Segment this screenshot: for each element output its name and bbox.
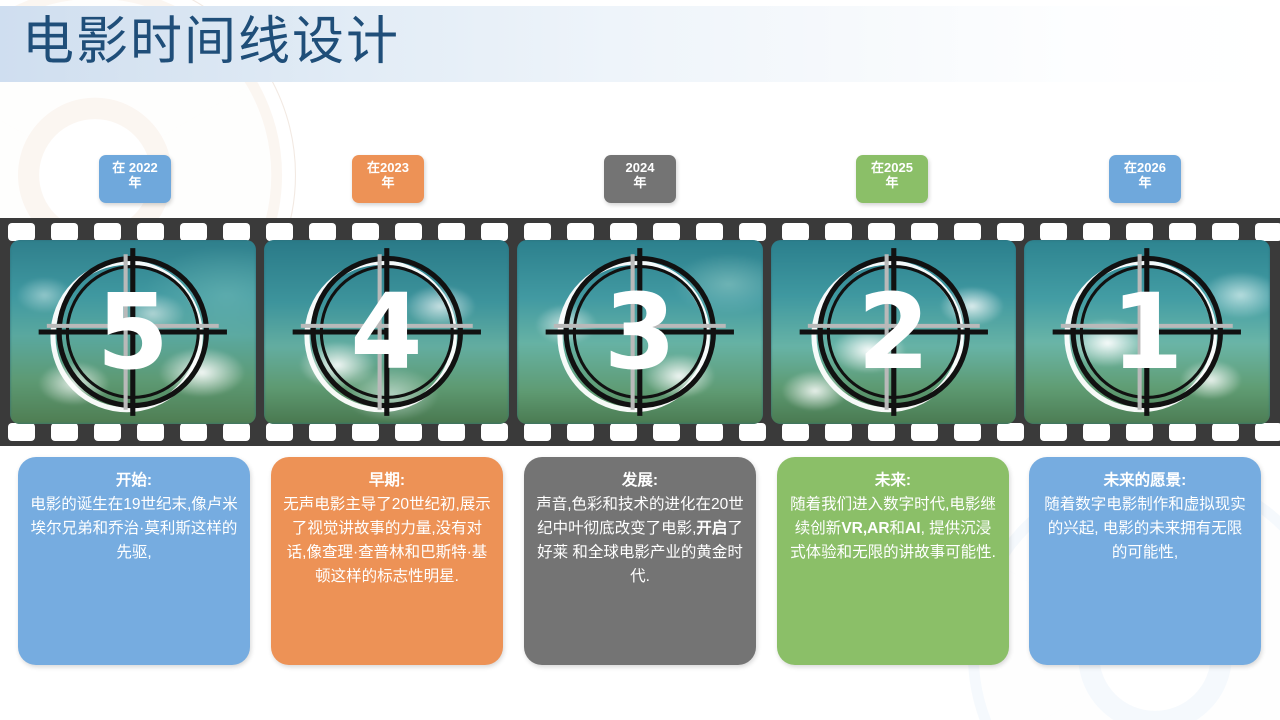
timeline-card-vision[interactable]: 未来的愿景: 随着数字电影制作和虚拟现实的兴起, 电影的未来拥有无限的可能性, <box>1029 457 1261 665</box>
film-perforation <box>266 423 293 441</box>
card-heading: 未来的愿景: <box>1041 469 1249 493</box>
film-perforation <box>1040 423 1067 441</box>
film-perforation <box>653 423 680 441</box>
badge-suffix: 年 <box>862 175 922 190</box>
film-perforation <box>696 423 723 441</box>
film-perforation <box>696 223 723 241</box>
film-perforation <box>782 423 809 441</box>
countdown-frame-1[interactable]: 1 <box>1024 240 1270 424</box>
countdown-frame-3[interactable]: 3 <box>517 240 763 424</box>
film-frames: 5 4 <box>0 240 1280 424</box>
countdown-digit: 1 <box>1024 280 1270 384</box>
card-body: 电影的诞生在19世纪末,像卢米埃尔兄弟和乔治·莫利斯这样的先驱, <box>30 493 238 565</box>
timeline-card-future[interactable]: 未来: 随着我们进入数字时代,电影继续创新VR,AR和AI, 提供沉浸式体验和无… <box>777 457 1009 665</box>
film-perforation <box>8 423 35 441</box>
countdown-frame-5[interactable]: 5 <box>10 240 256 424</box>
film-perforation <box>481 423 508 441</box>
badge-year: 2023 <box>380 160 409 175</box>
badge-year: 2026 <box>1137 160 1166 175</box>
card-body-emphasis-2: AI <box>905 520 921 537</box>
timeline-badge-2022[interactable]: 在 2022 年 <box>99 155 171 203</box>
film-perforation <box>911 423 938 441</box>
film-perforation <box>481 223 508 241</box>
countdown-digit: 2 <box>771 280 1017 384</box>
film-perforation <box>223 423 250 441</box>
film-perforation <box>1040 223 1067 241</box>
film-perforation <box>911 223 938 241</box>
timeline-badge-2025[interactable]: 在2025 年 <box>856 155 928 203</box>
card-body-mid: 和 <box>890 520 906 537</box>
badge-suffix: 年 <box>1115 175 1175 190</box>
film-perforation <box>653 223 680 241</box>
film-perforation <box>395 423 422 441</box>
film-perforation <box>1169 223 1196 241</box>
countdown-digit: 5 <box>10 280 256 384</box>
film-perforation <box>137 223 164 241</box>
film-perforation <box>137 423 164 441</box>
film-perforation <box>825 423 852 441</box>
badge-suffix: 年 <box>105 175 165 190</box>
film-perforation <box>524 423 551 441</box>
film-perforation <box>8 223 35 241</box>
film-perforation <box>180 423 207 441</box>
card-heading: 未来: <box>789 469 997 493</box>
film-perforations-bottom <box>0 423 1280 441</box>
film-perforation <box>309 423 336 441</box>
film-perforation <box>1126 223 1153 241</box>
timeline-card-development[interactable]: 发展: 声音,色彩和技术的进化在20世纪中叶彻底改变了电影,开启了好莱 和全球电… <box>524 457 756 665</box>
film-perforation <box>266 223 293 241</box>
card-body: 随着我们进入数字时代,电影继续创新VR,AR和AI, 提供沉浸式体验和无限的讲故… <box>789 493 997 565</box>
film-perforation <box>94 223 121 241</box>
badge-prefix: 在 <box>1124 160 1137 175</box>
card-heading: 早期: <box>283 469 491 493</box>
film-strip: 5 4 <box>0 218 1280 446</box>
film-perforation <box>438 223 465 241</box>
card-body: 无声电影主导了20世纪初,展示了视觉讲故事的力量,没有对话,像查理·查普林和巴斯… <box>283 493 491 589</box>
film-perforation <box>51 223 78 241</box>
film-perforation <box>954 423 981 441</box>
film-perforation <box>1255 223 1280 241</box>
film-perforation <box>868 423 895 441</box>
timeline-badge-2026[interactable]: 在2026 年 <box>1109 155 1181 203</box>
film-perforation <box>739 223 766 241</box>
film-perforation <box>1212 223 1239 241</box>
film-perforation <box>868 223 895 241</box>
countdown-frame-2[interactable]: 2 <box>771 240 1017 424</box>
film-perforation <box>610 223 637 241</box>
card-body: 随着数字电影制作和虚拟现实的兴起, 电影的未来拥有无限的可能性, <box>1041 493 1249 565</box>
countdown-frame-4[interactable]: 4 <box>264 240 510 424</box>
film-perforation <box>309 223 336 241</box>
timeline-card-start[interactable]: 开始: 电影的诞生在19世纪末,像卢米埃尔兄弟和乔治·莫利斯这样的先驱, <box>18 457 250 665</box>
film-perforation <box>51 423 78 441</box>
film-perforations-top <box>0 223 1280 241</box>
card-body-emphasis: 开启 <box>696 520 727 537</box>
film-perforation <box>1083 223 1110 241</box>
film-perforation <box>782 223 809 241</box>
film-perforation <box>739 423 766 441</box>
card-body-emphasis: VR,AR <box>841 520 889 537</box>
film-perforation <box>825 223 852 241</box>
film-perforation <box>1212 423 1239 441</box>
film-perforation <box>610 423 637 441</box>
card-body: 声音,色彩和技术的进化在20世纪中叶彻底改变了电影,开启了好莱 和全球电影产业的… <box>536 493 744 589</box>
film-perforation <box>94 423 121 441</box>
film-perforation <box>352 423 379 441</box>
film-perforation <box>524 223 551 241</box>
badge-year: 2025 <box>884 160 913 175</box>
film-perforation <box>997 423 1024 441</box>
film-perforation <box>180 223 207 241</box>
film-perforation <box>1126 423 1153 441</box>
badge-year: 2024 <box>626 160 655 175</box>
film-perforation <box>567 223 594 241</box>
countdown-digit: 3 <box>517 280 763 384</box>
timeline-card-early[interactable]: 早期: 无声电影主导了20世纪初,展示了视觉讲故事的力量,没有对话,像查理·查普… <box>271 457 503 665</box>
page-title: 电影时间线设计 <box>22 8 400 76</box>
badge-prefix: 在 <box>367 160 380 175</box>
film-perforation <box>997 223 1024 241</box>
film-perforation <box>1255 423 1280 441</box>
film-perforation <box>954 223 981 241</box>
badge-prefix: 在 <box>112 160 125 175</box>
timeline-badge-2024[interactable]: 2024 年 <box>604 155 676 203</box>
card-heading: 开始: <box>30 469 238 493</box>
slide-canvas: 电影时间线设计 在 2022 年 在2023 年 2024 年 在2025 年 … <box>0 0 1280 720</box>
film-perforation <box>223 223 250 241</box>
countdown-digit: 4 <box>264 280 510 384</box>
film-perforation <box>395 223 422 241</box>
badge-suffix: 年 <box>610 175 670 190</box>
timeline-badge-2023[interactable]: 在2023 年 <box>352 155 424 203</box>
film-perforation <box>567 423 594 441</box>
badge-year: 2022 <box>129 160 158 175</box>
badge-prefix: 在 <box>871 160 884 175</box>
film-perforation <box>438 423 465 441</box>
card-heading: 发展: <box>536 469 744 493</box>
badge-suffix: 年 <box>358 175 418 190</box>
film-perforation <box>352 223 379 241</box>
film-perforation <box>1169 423 1196 441</box>
film-perforation <box>1083 423 1110 441</box>
